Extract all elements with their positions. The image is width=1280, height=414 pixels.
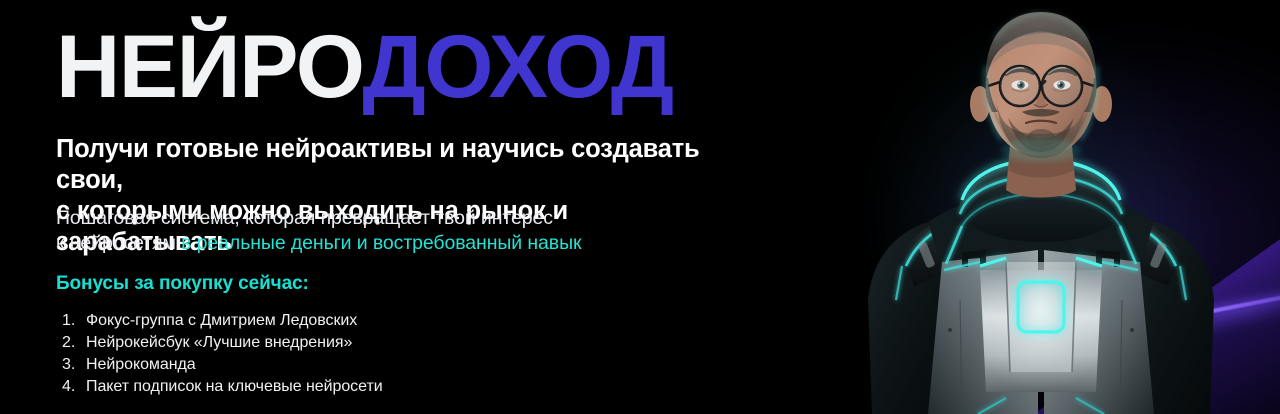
list-item-number: 1.: [62, 310, 75, 332]
subheadline-line-1: Получи готовые нейроактивы и научись соз…: [56, 135, 700, 194]
list-item: 1. Фокус-группа с Дмитрием Ледовских: [56, 310, 383, 332]
list-item-number: 3.: [62, 354, 75, 376]
lede-line-2-plain: к нейросетям: [56, 232, 181, 254]
promo-banner: НЕЙРОДОХОД Получи готовые нейроактивы и …: [0, 0, 1280, 414]
lede-line-1: Пошаговая система, которая превращает тв…: [56, 207, 553, 229]
list-item-label: Пакет подписок на ключевые нейросети: [86, 378, 383, 395]
list-item-number: 4.: [62, 376, 75, 398]
title-part-accent: ДОХОД: [362, 16, 672, 116]
list-item-label: Нейрокоманда: [86, 356, 196, 373]
title-part-white: НЕЙРО: [56, 16, 362, 116]
list-item-number: 2.: [62, 332, 75, 354]
page-title: НЕЙРОДОХОД: [56, 22, 673, 111]
copy-column: НЕЙРОДОХОД Получи готовые нейроактивы и …: [56, 0, 756, 414]
lede-line-2-highlight: в реальные деньги и востребованный навык: [181, 232, 581, 254]
list-item-label: Нейрокейсбук «Лучшие внедрения»: [86, 334, 352, 351]
bonus-list: 1. Фокус-группа с Дмитрием Ледовских 2. …: [56, 310, 383, 398]
list-item-label: Фокус-группа с Дмитрием Ледовских: [86, 312, 357, 329]
list-item: 4. Пакет подписок на ключевые нейросети: [56, 376, 383, 398]
lede-paragraph: Пошаговая система, которая превращает тв…: [56, 206, 716, 256]
hero-figure-man-in-armor: [810, 0, 1280, 414]
list-item: 3. Нейрокоманда: [56, 354, 383, 376]
list-item: 2. Нейрокейсбук «Лучшие внедрения»: [56, 332, 383, 354]
lede-line-2: к нейросетям в реальные деньги и востреб…: [56, 231, 716, 256]
bonus-heading: Бонусы за покупку сейчас:: [56, 273, 309, 295]
